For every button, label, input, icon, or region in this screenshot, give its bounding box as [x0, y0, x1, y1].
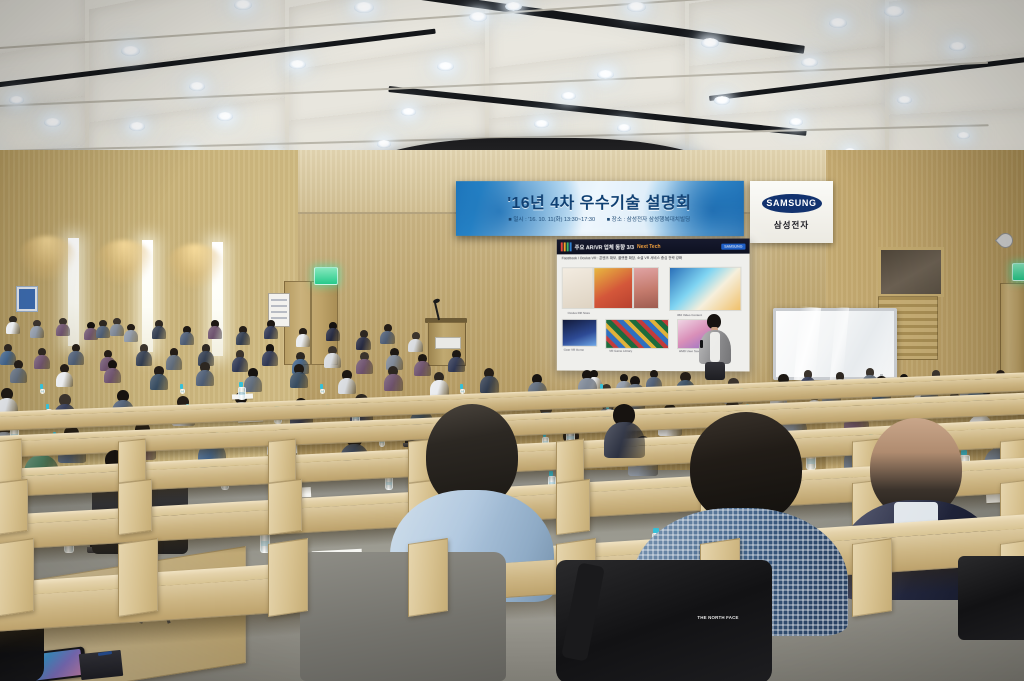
audience-torso: [34, 355, 50, 369]
audience-torso: [408, 339, 423, 353]
audience-member: [96, 320, 110, 338]
desk-divider: [0, 479, 28, 536]
right-door[interactable]: [1000, 283, 1024, 381]
bottle-cap: [40, 384, 42, 389]
bottle-body: [238, 387, 246, 400]
audience-torso: [180, 332, 194, 345]
bottle-cap: [460, 384, 462, 389]
slide-tag: Next Tech: [637, 243, 660, 249]
audience-member: [110, 318, 124, 336]
audience-member: [296, 328, 310, 347]
ceiling-downlight: [189, 82, 205, 91]
ceiling-downlight: [789, 118, 803, 126]
wall-sconce-glow: [166, 244, 224, 288]
sponsor-plate: SAMSUNG 삼성전자: [750, 181, 833, 243]
audience-member: [180, 326, 194, 345]
audience-torso: [68, 351, 84, 365]
slide-bullet-text: Facebook / Oculus VR : 콘텐츠 확보, 플랫폼 확장, 소…: [562, 256, 745, 262]
audience-member: [68, 344, 84, 365]
whiteboard-glare: [829, 307, 848, 382]
desk-bag: [958, 556, 1024, 640]
audience-torso: [326, 328, 340, 341]
banner-place: ■ 장소 : 삼성전자 삼성행복대치빌딩: [607, 217, 691, 223]
banner-date: ■ 일시 : '16. 10. 11(화) 13:30~17:30: [508, 217, 595, 223]
bottle-label: [461, 391, 464, 392]
audience-torso: [480, 376, 499, 393]
audience-torso: [264, 326, 278, 339]
audience-member: [244, 368, 262, 392]
desk-divider: [556, 439, 584, 484]
event-banner: '16년 4차 우수기술 설명회 ■ 일시 : '16. 10. 11(화) 1…: [456, 181, 744, 236]
desk-divider: [408, 538, 448, 617]
water-bottle: [40, 384, 43, 394]
audience-member: [326, 322, 340, 341]
audience-torso: [166, 355, 182, 370]
audience-torso: [380, 331, 395, 345]
wall-sconce-glow: [95, 240, 153, 284]
slide-badge: SAMSUNG: [721, 243, 745, 249]
slide-thumb: [605, 319, 669, 349]
audience-torso: [208, 326, 222, 339]
desk-divider: [0, 538, 34, 617]
ceiling-downlight: [217, 112, 233, 121]
bottle-label: [41, 391, 44, 392]
audience-torso: [356, 359, 373, 374]
audience-member: [356, 330, 371, 350]
audience-member: [430, 372, 449, 397]
presenter: [698, 314, 734, 380]
audience-torso: [448, 357, 465, 372]
ceiling-downlight: [469, 12, 487, 22]
audience-member: [124, 324, 138, 342]
presenter-jacket: [699, 330, 731, 364]
audience-torso: [6, 322, 20, 334]
bottle-label: [181, 391, 184, 392]
water-bottle: [320, 384, 323, 394]
audience-torso: [150, 374, 168, 390]
samsung-logo-icon: SAMSUNG: [762, 194, 822, 213]
slide-thumb: [562, 319, 598, 347]
exit-sign-right: [1012, 263, 1024, 281]
desk-divider: [268, 538, 308, 617]
audience-torso: [152, 326, 166, 339]
audience-torso: [30, 326, 44, 338]
audience-torso: [324, 353, 341, 368]
north-face-backpack: THE NORTH FACE: [556, 560, 772, 681]
fabric-chair[interactable]: [300, 552, 506, 681]
right-wall-window: [878, 247, 944, 297]
slide-thumb: [593, 267, 633, 309]
audience-member: [104, 360, 121, 383]
water-bottle: [238, 382, 244, 400]
ceiling-downlight: [957, 132, 970, 139]
desk-divider: [556, 479, 590, 536]
audience-member: [338, 370, 356, 394]
presenter-microphone-icon: [700, 340, 703, 348]
desk-divider: [118, 538, 158, 617]
bottle-label: [321, 391, 324, 392]
slide-thumb-caption: Oculus Rift Store: [568, 311, 590, 315]
banner-title: '16년 4차 우수기술 설명회: [456, 189, 744, 213]
accessibility-sign: [16, 286, 38, 312]
audience-torso: [262, 351, 278, 366]
audience-torso: [414, 361, 431, 376]
desk-divider: [118, 479, 152, 536]
lecture-hall-photo: '16년 4차 우수기술 설명회 ■ 일시 : '16. 10. 11(화) 1…: [0, 0, 1024, 681]
audience-torso: [290, 372, 308, 388]
backpack-strap: [561, 562, 605, 661]
audience-member: [264, 320, 278, 339]
ceiling-downlight: [377, 140, 391, 148]
water-bottle: [180, 384, 183, 394]
audience-torso: [124, 330, 138, 342]
slide-thumb: [562, 267, 594, 309]
whiteboard: [773, 308, 897, 380]
audience-member: [196, 362, 214, 386]
audience-member: [380, 324, 395, 344]
audience-member: [10, 360, 27, 383]
audience-member: [262, 344, 278, 366]
audience-member: [56, 364, 73, 387]
audience-torso: [196, 370, 214, 386]
audience-torso: [244, 376, 262, 392]
audience-torso: [104, 368, 121, 384]
ceiling-downlight: [701, 38, 719, 48]
ceiling-downlight: [129, 122, 145, 131]
audience-member: [208, 320, 222, 339]
podium-panel: [435, 337, 461, 349]
audience-member: [56, 318, 70, 336]
audience-member: [6, 316, 20, 334]
audience-member: [384, 366, 403, 391]
audience-member: [356, 352, 373, 374]
north-face-logo-icon: THE NORTH FACE: [694, 616, 742, 621]
audience-member: [408, 332, 423, 352]
bottle-label: [239, 392, 245, 395]
audience-torso: [136, 351, 152, 366]
wall-sconce-glow: [18, 236, 76, 280]
slide-title: 주요 AR/VR 업체 동향 3/3: [575, 243, 635, 251]
banner-subtitle: ■ 일시 : '16. 10. 11(화) 13:30~17:30 ■ 장소 :…: [456, 215, 744, 223]
ceiling-downlight: [884, 6, 904, 17]
audience-member: [448, 350, 465, 372]
samsung-korean-name: 삼성전자: [774, 219, 809, 231]
audience-member: [136, 344, 152, 366]
audience-torso: [356, 337, 371, 351]
slide-header: 주요 AR/VR 업체 동향 3/3 Next Tech SAMSUNG: [557, 239, 750, 255]
slide-thumb: [669, 267, 741, 311]
audience-member: [152, 320, 166, 339]
audience-member: [324, 346, 341, 368]
audience-torso: [56, 372, 73, 388]
presenter-trousers: [705, 362, 725, 380]
slide-thumb-caption: VR Game Library: [609, 349, 632, 353]
bottle-cap: [180, 384, 182, 389]
audience-torso: [96, 326, 110, 338]
audience-member: [34, 348, 50, 369]
desk-divider: [268, 479, 302, 536]
ceiling-downlight: [617, 124, 631, 132]
ceiling-downlight: [234, 0, 252, 10]
slide-color-swatches: [561, 242, 572, 251]
audience-torso: [296, 334, 310, 347]
audience-member: [236, 326, 250, 345]
audience-torso: [384, 374, 403, 391]
ceiling-downlight: [714, 96, 730, 105]
bottle-cap: [320, 384, 322, 389]
audience-member: [150, 366, 168, 390]
desk-divider: [118, 439, 146, 484]
audience-torso: [10, 368, 27, 384]
audience-torso: [338, 378, 356, 394]
audience-member: [30, 320, 44, 338]
audience-member: [166, 348, 182, 370]
audience-torso: [56, 324, 70, 336]
slide-thumb-caption: Gear VR Home: [564, 348, 584, 352]
desk-divider: [0, 439, 22, 484]
audience-torso: [110, 324, 124, 336]
water-bottle: [460, 384, 463, 394]
exit-sign-left: [314, 267, 338, 285]
ceiling-downlight: [829, 18, 847, 28]
audience-member: [480, 368, 499, 393]
audience-member: [290, 364, 308, 388]
desk-divider: [852, 538, 892, 617]
ceiling-downlight: [354, 2, 374, 13]
audience-torso: [236, 332, 250, 345]
slide-thumb: [633, 267, 659, 309]
samsung-logo-text: SAMSUNG: [766, 198, 816, 209]
desk-divider: [268, 439, 296, 484]
audience-member: [414, 354, 431, 376]
